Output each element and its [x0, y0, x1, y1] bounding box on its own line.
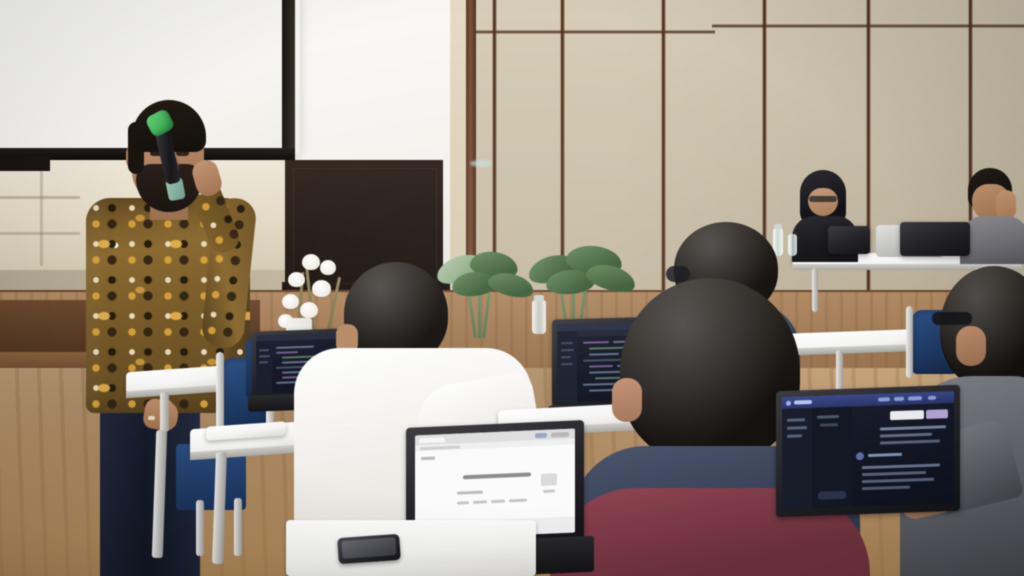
window-dot-icon: [786, 401, 791, 406]
browser-tab: [419, 437, 445, 443]
presenter-ring: [148, 416, 155, 420]
head: [940, 266, 1024, 390]
desk-1-leg: [160, 392, 169, 432]
water-bottle-center: [532, 300, 546, 334]
laptop-ide-right: [776, 385, 960, 517]
laptop-dark-back: [900, 222, 970, 256]
status-badge: [818, 491, 846, 500]
head: [620, 278, 800, 464]
water-bottle-back-2: [788, 234, 797, 256]
laptop-ide-right-screen: [782, 391, 954, 509]
highlight-block: [890, 410, 924, 420]
avatar: [856, 452, 864, 460]
page-heading: [463, 472, 531, 479]
projector-screen-edge: [282, 0, 295, 154]
chair-1-leg: [196, 500, 204, 556]
browser-button-2: [551, 432, 569, 438]
glasses-icon: [932, 312, 972, 325]
laptop-dark-back-2: [828, 226, 870, 254]
page-body: [415, 445, 575, 524]
orchid-bloom: [282, 294, 299, 309]
foreground-desk: [286, 520, 536, 576]
sidebar: [782, 408, 812, 509]
chair-3-frame: [906, 306, 913, 378]
water-bottle-center-cap: [534, 295, 544, 301]
titlebar: [782, 391, 954, 409]
seminar-room-photo: [0, 0, 1024, 576]
chair-1-leg-2: [234, 498, 242, 556]
smartphone-screen: [341, 537, 396, 559]
ear: [612, 378, 642, 422]
wall-fixture-icon: [470, 160, 492, 167]
ear: [956, 326, 986, 366]
browser-button: [535, 433, 547, 439]
glasses-icon: [809, 196, 837, 202]
page-thumbnail: [541, 473, 557, 486]
highlight-block-2: [926, 409, 948, 419]
